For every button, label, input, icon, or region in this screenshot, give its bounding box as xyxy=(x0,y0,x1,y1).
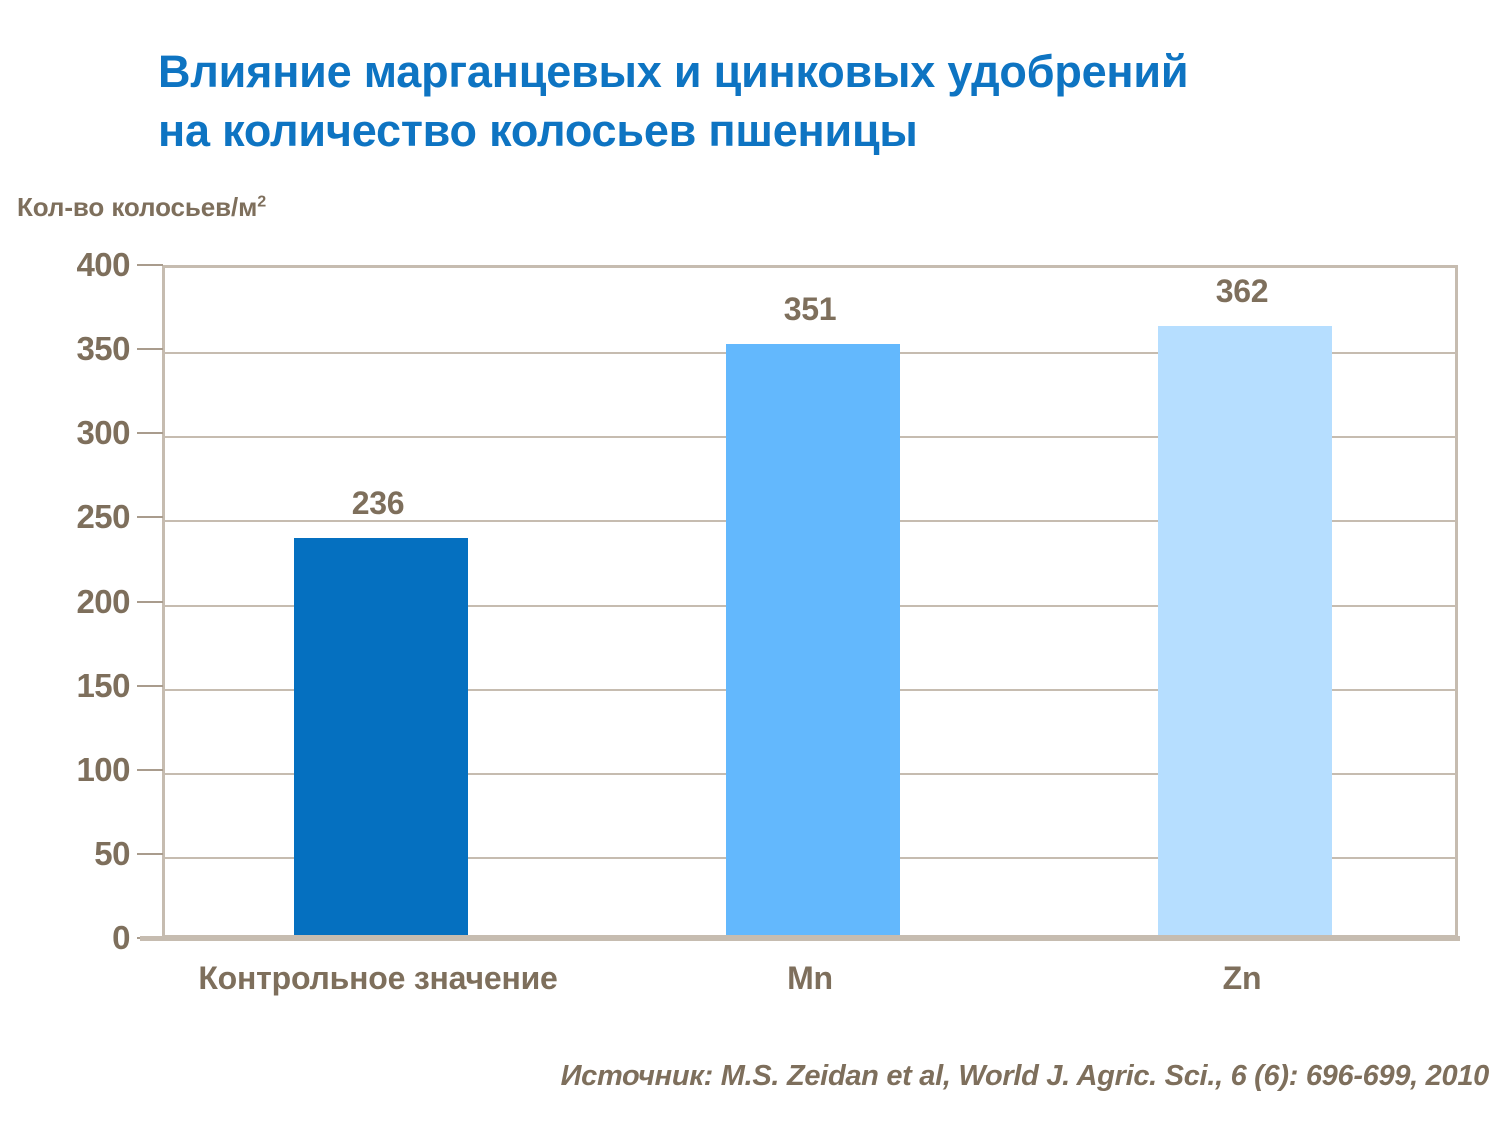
y-axis-title: Кол-во колосьев/м2 xyxy=(17,192,266,223)
y-tick-label: 350 xyxy=(10,330,130,368)
y-tick-label: 300 xyxy=(10,414,130,452)
x-category-label: Mn xyxy=(594,960,1026,997)
source-note: Источник: M.S. Zeidan et al, World J. Ag… xyxy=(0,1060,1489,1093)
y-tick-mark xyxy=(137,769,163,771)
x-category-label: Zn xyxy=(1026,960,1458,997)
y-tick-label: 0 xyxy=(10,919,130,957)
y-tick-label: 250 xyxy=(10,498,130,536)
y-tick-mark xyxy=(137,264,163,266)
y-tick-label: 200 xyxy=(10,583,130,621)
page-title: Влияние марганцевых и цинковых удобрений… xyxy=(158,42,1408,161)
y-tick-mark xyxy=(137,432,163,434)
y-tick-label: 400 xyxy=(10,246,130,284)
bar-value-label: 351 xyxy=(710,291,910,328)
y-tick-mark xyxy=(137,685,163,687)
bar-2[interactable] xyxy=(726,344,900,935)
bar-value-label: 362 xyxy=(1142,273,1342,310)
y-tick-mark xyxy=(137,601,163,603)
y-tick-mark xyxy=(137,348,163,350)
bar-1[interactable] xyxy=(294,538,468,935)
y-tick-label: 100 xyxy=(10,751,130,789)
x-category-label: Контрольное значение xyxy=(162,960,594,997)
bar-value-label: 236 xyxy=(278,485,478,522)
y-axis-title-text: Кол-во колосьев/м xyxy=(17,192,257,222)
y-axis-title-superscript: 2 xyxy=(257,192,266,210)
y-tick-mark xyxy=(137,516,163,518)
y-tick-label: 50 xyxy=(10,835,130,873)
x-axis-line xyxy=(140,936,1460,941)
y-tick-label: 150 xyxy=(10,667,130,705)
bar-3[interactable] xyxy=(1158,326,1332,935)
plot-area xyxy=(162,265,1458,938)
y-tick-mark xyxy=(137,853,163,855)
